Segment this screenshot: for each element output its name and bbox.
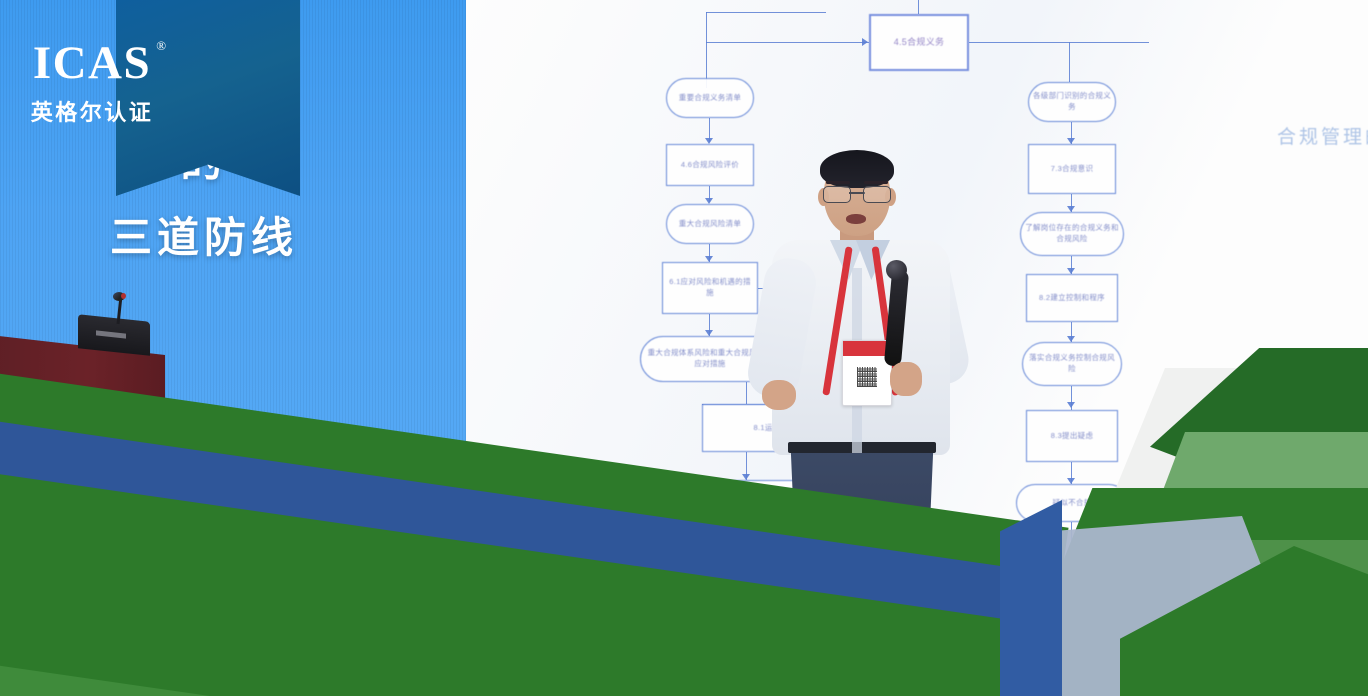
registered-trademark-icon: ® (156, 39, 166, 52)
icas-chinese-name: 英格尔认证 (31, 95, 154, 127)
screenshot-root: 4.5合规义务 重要合规义务清单 4.6合规风险评价 重大合规风险清单 6.1应… (0, 0, 1368, 696)
headline-line-2: 三道防线 (44, 204, 364, 265)
geometric-shape-blue-panel (1000, 500, 1062, 696)
icas-brand-content: ICAS ® 英格尔认证 (0, 0, 184, 196)
icas-wordmark: ICAS ® (33, 40, 151, 87)
icas-wordmark-text: ICAS (33, 37, 151, 89)
